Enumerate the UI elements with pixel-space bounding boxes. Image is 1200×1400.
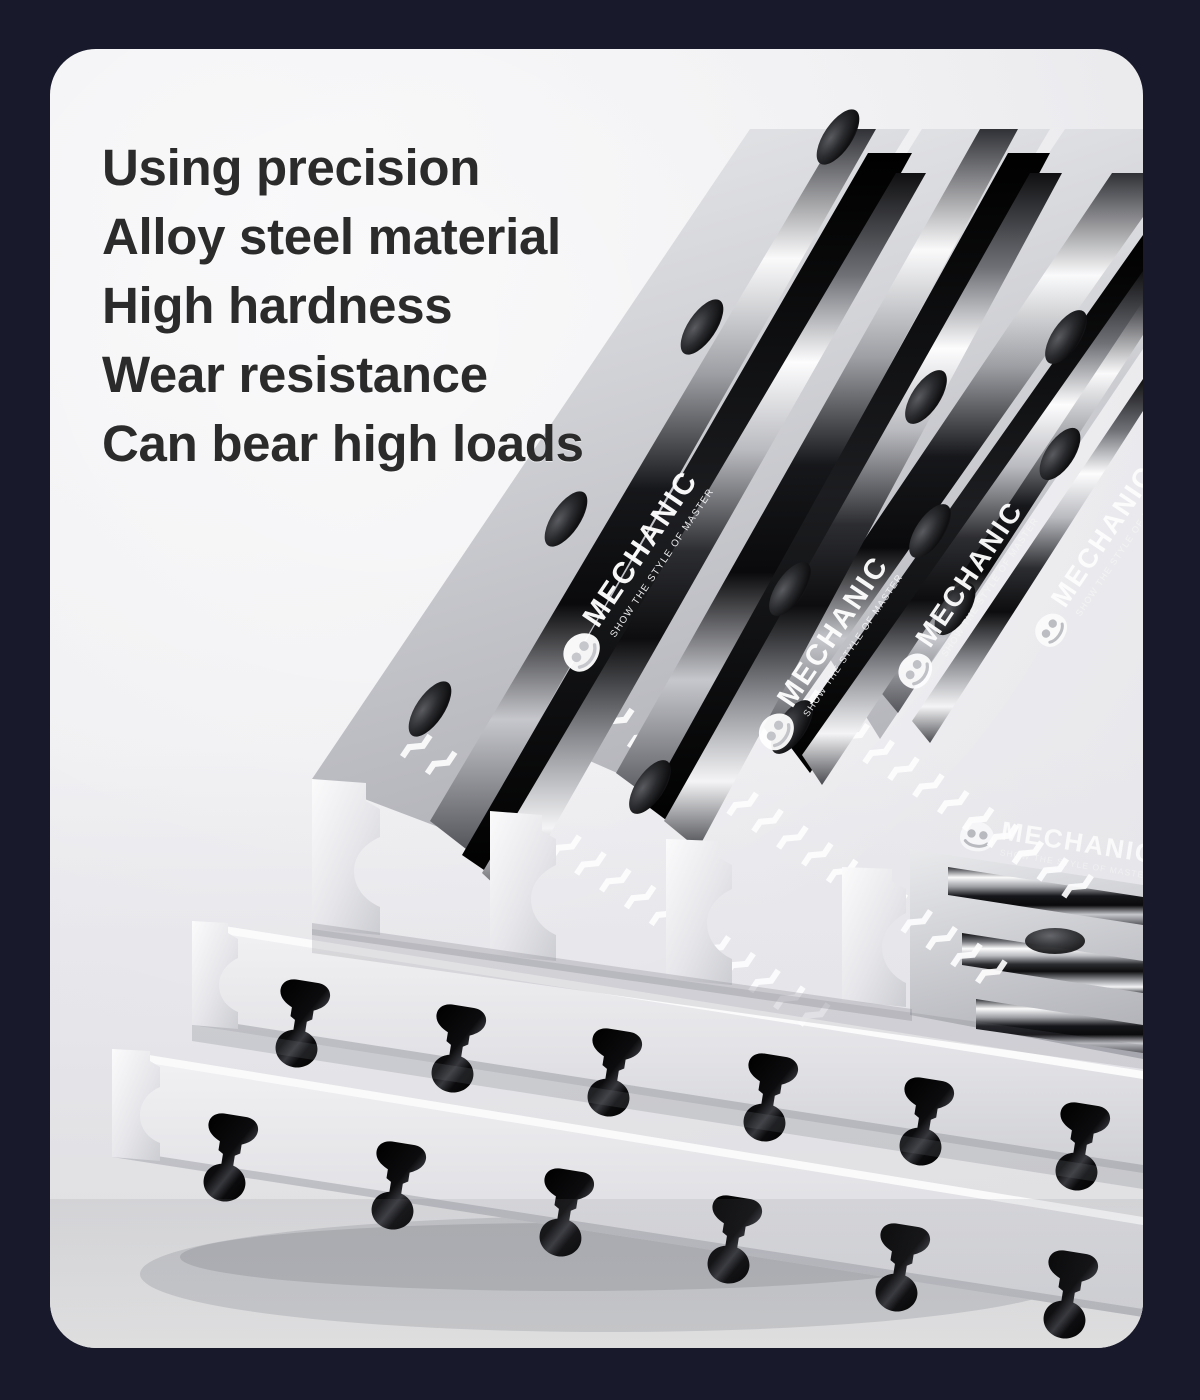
product-feature-card: MECHANIC SHOW THE STYLE OF MASTER bbox=[50, 49, 1143, 1348]
feature-line-4: Wear resistance bbox=[102, 340, 584, 409]
feature-line-5: Can bear high loads bbox=[102, 409, 584, 478]
mechanic-logo-icon bbox=[958, 819, 996, 854]
feature-line-2: Alloy steel material bbox=[102, 202, 584, 271]
mechanic-logo-icon bbox=[1029, 607, 1073, 652]
feature-list: Using precision Alloy steel material Hig… bbox=[102, 133, 584, 478]
feature-line-3: High hardness bbox=[102, 271, 584, 340]
page-root: MECHANIC SHOW THE STYLE OF MASTER bbox=[0, 0, 1200, 1400]
feature-line-1: Using precision bbox=[102, 133, 584, 202]
